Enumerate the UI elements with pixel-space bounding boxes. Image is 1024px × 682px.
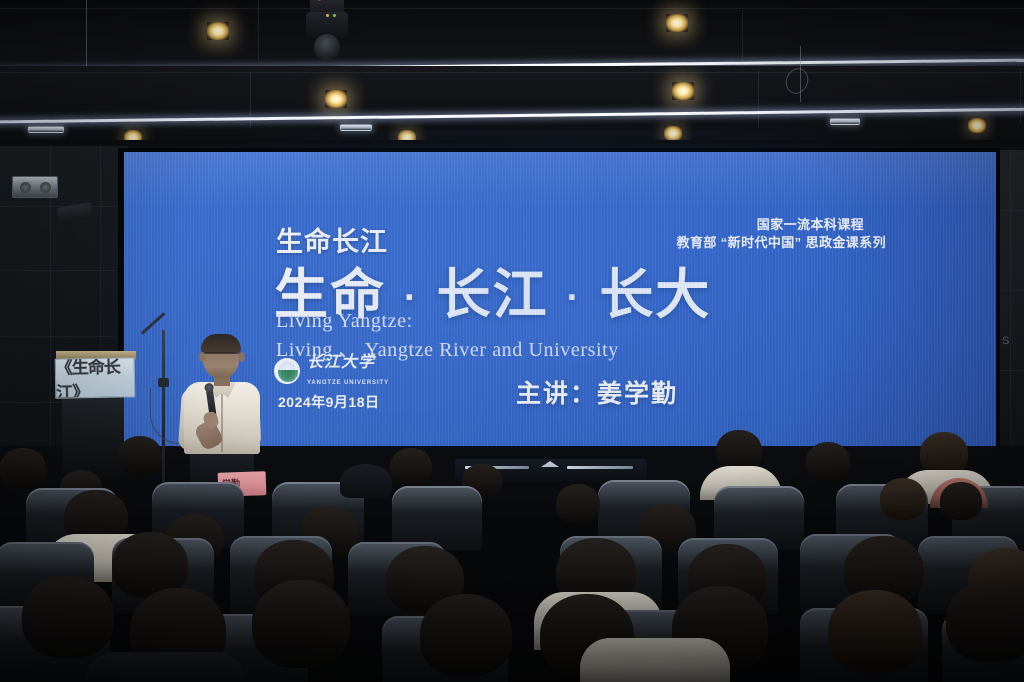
audience-head <box>806 442 850 482</box>
main-title-separator-2: · <box>549 277 600 319</box>
audience-head <box>828 590 922 674</box>
audience-head <box>946 580 1024 662</box>
audience-head <box>118 436 162 476</box>
ceiling-downlight <box>325 90 347 108</box>
audience-head <box>0 448 46 488</box>
ceiling-downlight <box>664 126 682 141</box>
audience-shoulders <box>580 638 730 682</box>
audience-head <box>880 478 926 520</box>
university-name-en: YANGTZE UNIVERSITY <box>307 380 389 386</box>
main-title-part-3: 长大 <box>599 265 711 325</box>
ceiling-downlight <box>207 22 229 40</box>
university-logo: 长江大学 YANGTZE UNIVERSITY <box>274 354 389 389</box>
slide-speaker-name: 主讲：姜学勤 <box>516 374 678 410</box>
audience-head <box>252 580 350 668</box>
slide-date: 2024年9月18日 <box>278 392 380 412</box>
right-wall-sign: S <box>1002 335 1018 353</box>
ceiling-downlight <box>666 14 688 32</box>
presenter-glasses-icon <box>206 352 236 359</box>
audience-shoulders <box>86 652 246 682</box>
ceiling <box>0 0 1024 152</box>
air-vent-icon <box>12 176 58 198</box>
audience-area: 学勤 <box>0 430 1024 682</box>
recessed-lamp <box>830 118 860 125</box>
presenter-hair <box>201 334 241 354</box>
lecture-hall-scene: S 生命长江 生命·长江·长大 Living Yangtze: Living 、… <box>0 0 1024 682</box>
podium-sign-text: 《生命长江》 <box>56 358 135 397</box>
ceiling-downlight <box>968 118 986 133</box>
hanging-cable <box>86 0 87 76</box>
recessed-lamp <box>340 124 372 131</box>
audience-head <box>420 594 512 676</box>
recessed-lamp <box>28 126 64 133</box>
auditorium-seat <box>392 486 482 550</box>
podium-calligraphy-sign: 《生命长江》 <box>55 357 136 398</box>
ceiling-downlight <box>672 82 694 100</box>
slide-english-line-1: Living Yangtze: <box>276 310 413 333</box>
slide-badge-ministry-series: 教育部 “新时代中国” 思政金课系列 <box>677 232 886 251</box>
main-title-part-2: 长江 <box>437 265 549 325</box>
audience-cap <box>340 464 392 498</box>
university-crest-icon <box>274 358 300 384</box>
slide-badge-national-course: 国家一流本科课程 <box>757 214 864 233</box>
audience-head <box>22 576 114 658</box>
audience-head <box>390 448 432 486</box>
audience-head <box>940 482 982 520</box>
university-name-cn: 长江大学 <box>307 352 375 371</box>
audience-head <box>556 484 600 524</box>
moving-head-projector-icon <box>300 0 356 66</box>
